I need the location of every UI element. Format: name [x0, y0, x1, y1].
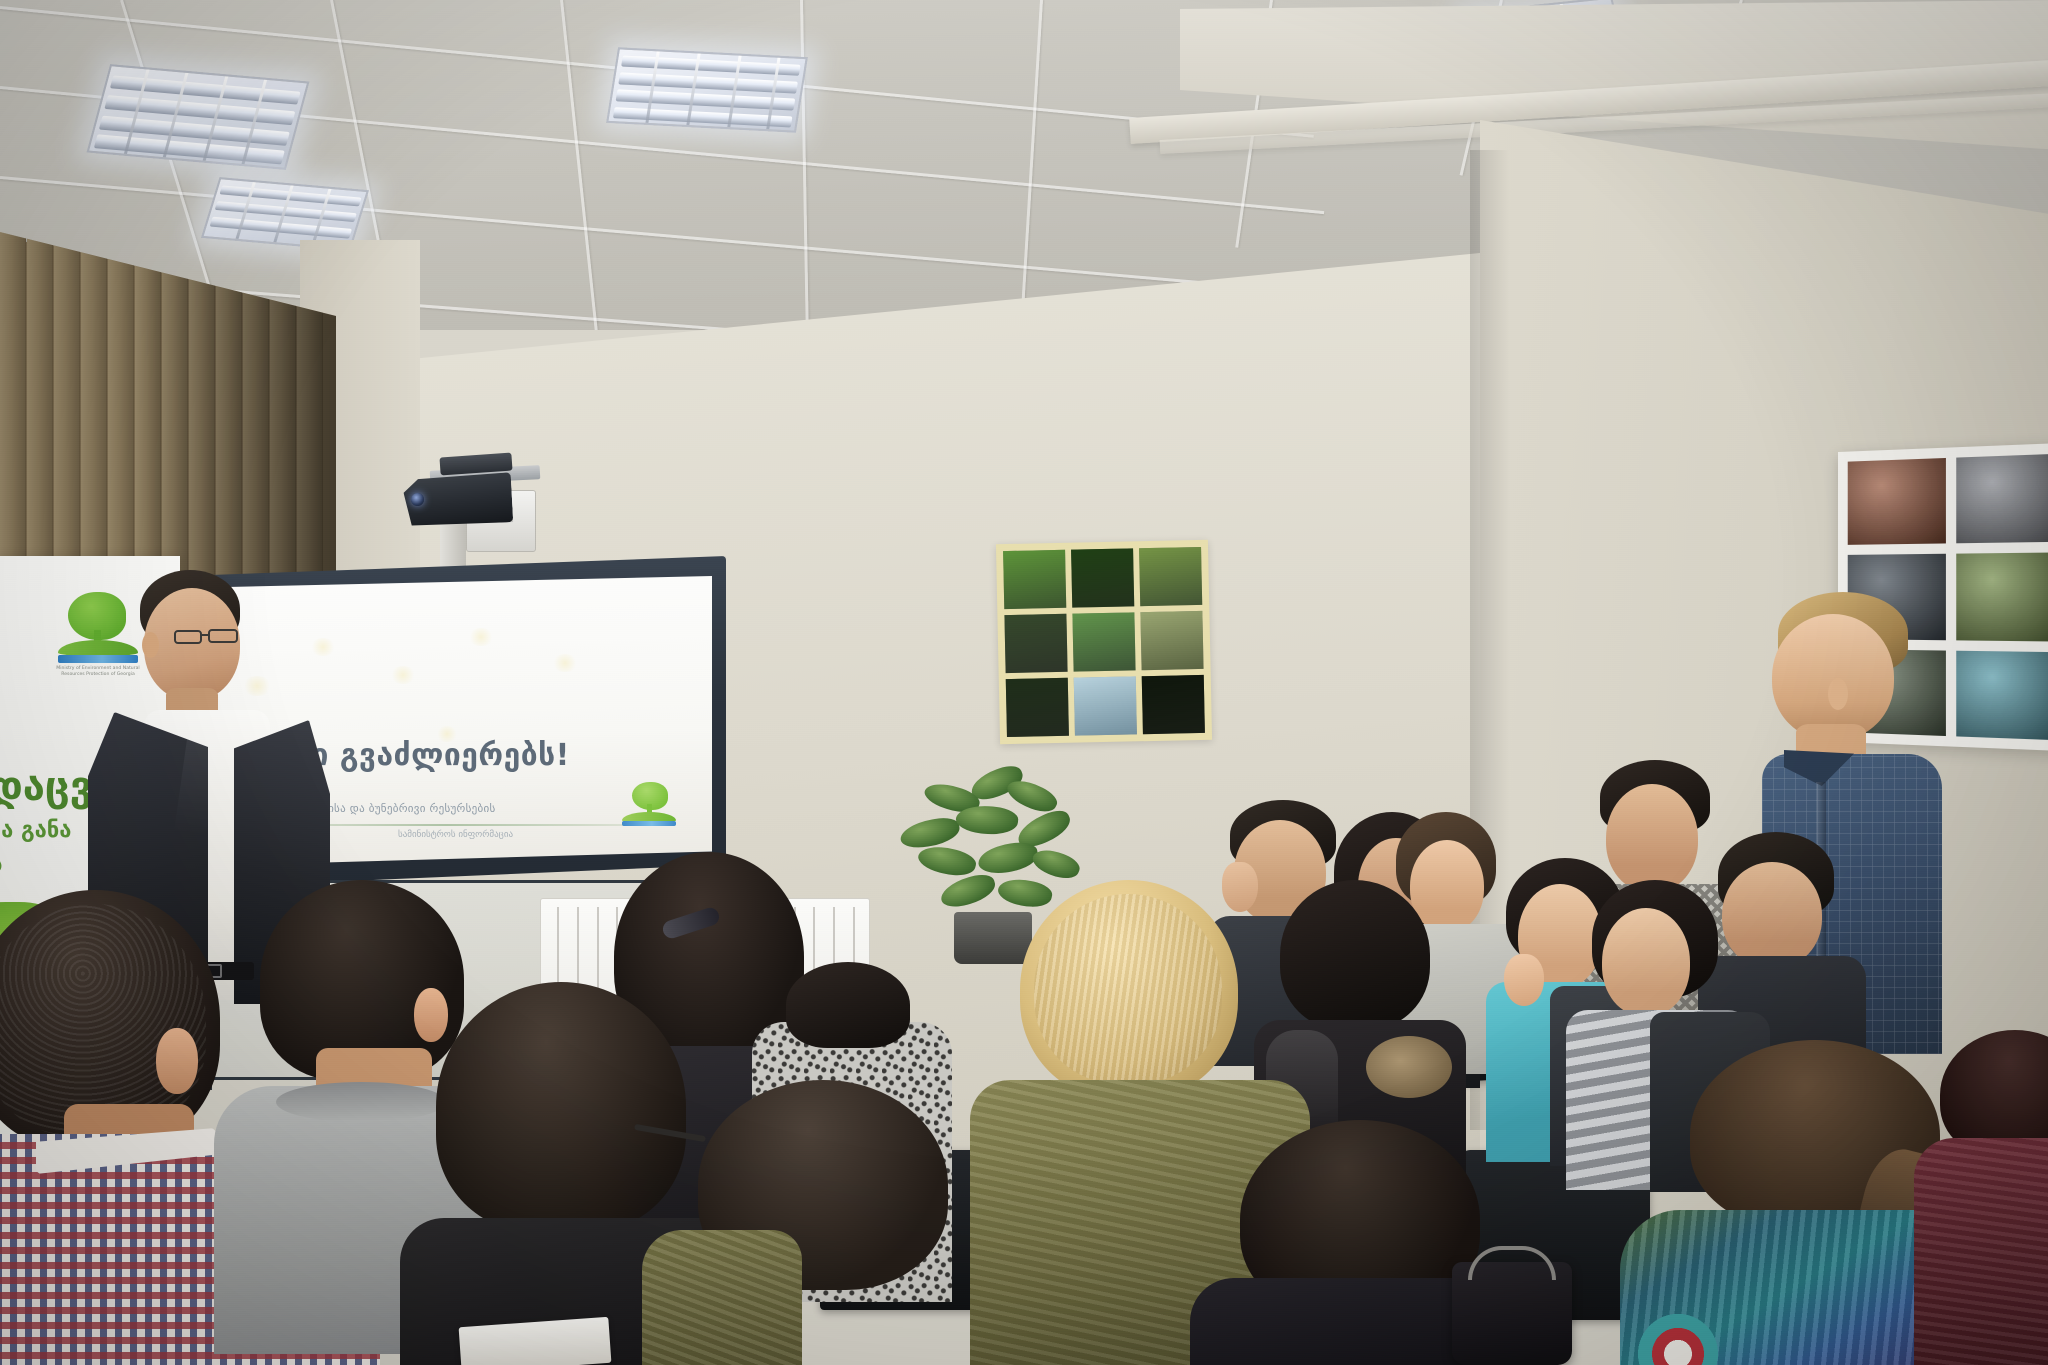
- collage-photo: [1140, 611, 1203, 670]
- fur-trim: [1366, 1036, 1452, 1098]
- banner-headline: ოსდაცვ: [0, 764, 92, 810]
- framed-photo: [1848, 458, 1946, 545]
- ceiling-light-fixture: [606, 47, 808, 132]
- banner-subline-2: ს: [0, 852, 3, 877]
- seminar-room-photo: ხვები გვაძლიერებს! გარემოს დაცვისა და ბუ…: [0, 0, 2048, 1365]
- projector-lens: [411, 493, 424, 506]
- banner-subline: ისა და განა: [0, 818, 72, 843]
- collage-photo: [1142, 675, 1205, 734]
- slide-logo-tree-icon: [620, 782, 678, 828]
- ceiling-light-fixture: [87, 64, 310, 170]
- framed-photo: [1956, 454, 2048, 544]
- standing-man-head: [1772, 614, 1894, 740]
- audience-olive-knit-front: [668, 1080, 998, 1365]
- nature-photo-collage: [996, 540, 1212, 744]
- knit-motif: [1630, 1308, 1750, 1365]
- presenter-glasses-icon: [174, 628, 240, 645]
- audience-maroon-knit-woman: [1930, 1030, 2048, 1365]
- collage-photo: [1071, 548, 1134, 607]
- collage-photo: [1072, 612, 1135, 671]
- collage-photo: [1074, 676, 1137, 735]
- slide-footer-sub: სამინისტროს ინფორმაცია: [398, 830, 513, 840]
- collage-photo: [1139, 547, 1202, 606]
- collage-photo: [1004, 614, 1067, 673]
- collage-photo: [1006, 678, 1069, 737]
- collage-photo: [1003, 550, 1066, 609]
